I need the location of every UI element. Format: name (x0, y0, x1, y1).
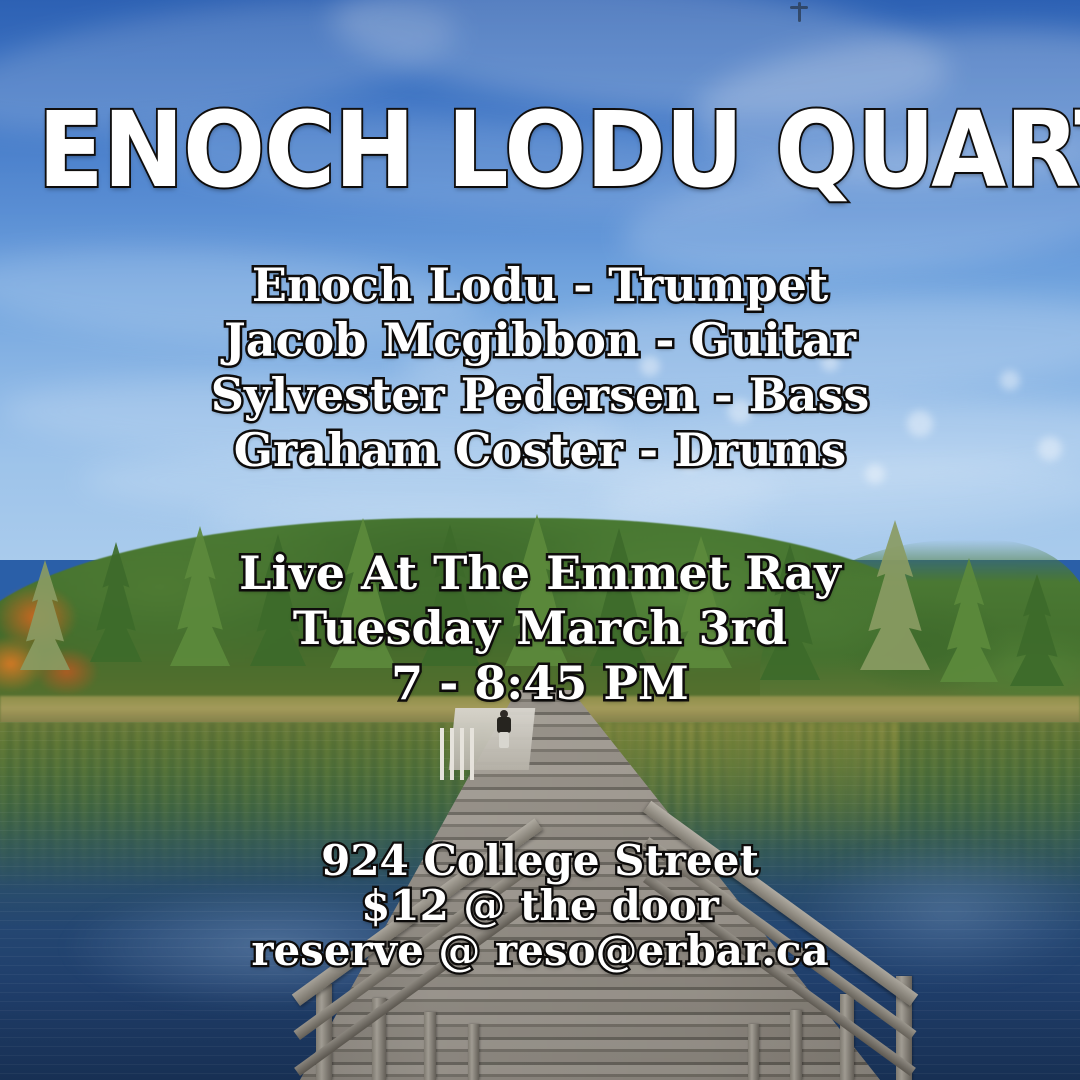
event-block: Live At The Emmet Ray Tuesday March 3rd … (0, 546, 1080, 711)
address-line: 924 College Street (0, 838, 1080, 883)
reservation-line: reserve @ reso@erbar.ca (0, 928, 1080, 973)
details-block: 924 College Street $12 @ the door reserv… (0, 838, 1080, 973)
poster-text-overlay: ENOCH LODU QUARTET Enoch Lodu - Trumpet … (0, 0, 1080, 1080)
venue-line: Live At The Emmet Ray (0, 546, 1080, 601)
lineup-line: Sylvester Pedersen - Bass (0, 368, 1080, 423)
event-poster: ENOCH LODU QUARTET Enoch Lodu - Trumpet … (0, 0, 1080, 1080)
time-line: 7 - 8:45 PM (0, 656, 1080, 711)
lineup-line: Jacob Mcgibbon - Guitar (0, 313, 1080, 368)
poster-title: ENOCH LODU QUARTET (38, 98, 1042, 202)
lineup-line: Graham Coster - Drums (0, 423, 1080, 478)
price-line: $12 @ the door (0, 883, 1080, 928)
date-line: Tuesday March 3rd (0, 601, 1080, 656)
lineup-block: Enoch Lodu - Trumpet Jacob Mcgibbon - Gu… (0, 258, 1080, 478)
lineup-line: Enoch Lodu - Trumpet (0, 258, 1080, 313)
